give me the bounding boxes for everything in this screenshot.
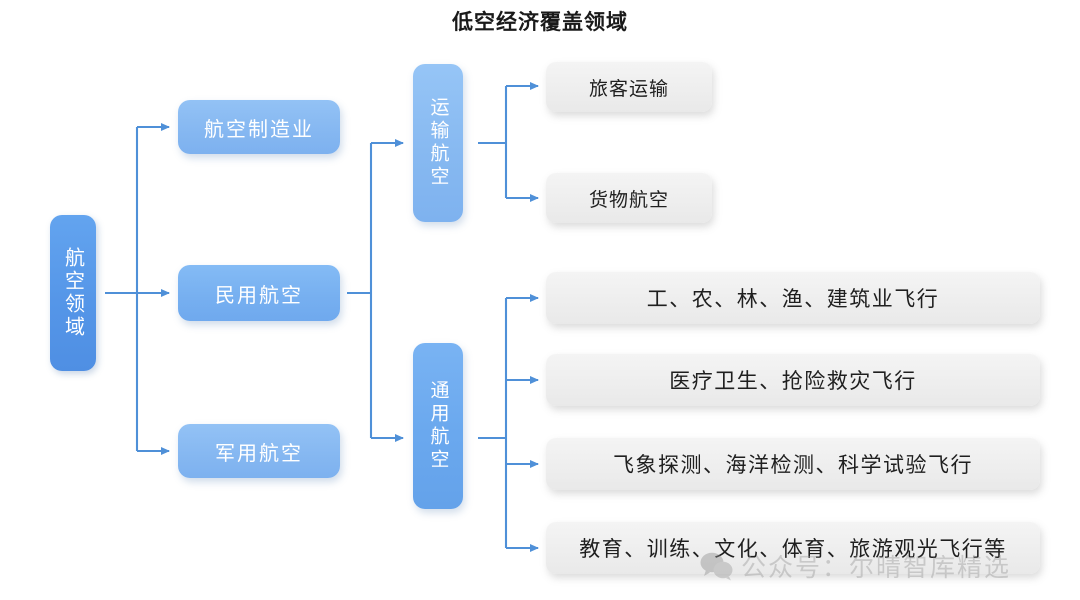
node-aviation-domain[interactable]: 航空领域 xyxy=(50,215,96,371)
node-industry-agriculture-flight[interactable]: 工、农、林、渔、建筑业飞行 xyxy=(546,272,1040,324)
node-cargo-aviation[interactable]: 货物航空 xyxy=(546,173,712,223)
node-education-tourism-flight-label: 教育、训练、文化、体育、旅游观光飞行等 xyxy=(579,533,1007,563)
node-industry-agriculture-flight-label: 工、农、林、渔、建筑业飞行 xyxy=(647,283,940,313)
node-education-tourism-flight[interactable]: 教育、训练、文化、体育、旅游观光飞行等 xyxy=(546,522,1040,574)
node-aviation-manufacturing[interactable]: 航空制造业 xyxy=(178,100,340,154)
node-medical-rescue-flight[interactable]: 医疗卫生、抢险救灾飞行 xyxy=(546,354,1040,406)
node-passenger-transport-label: 旅客运输 xyxy=(589,74,669,101)
node-passenger-transport[interactable]: 旅客运输 xyxy=(546,62,712,112)
node-military-aviation-label: 军用航空 xyxy=(215,437,303,466)
node-civil-aviation-label: 民用航空 xyxy=(215,279,303,308)
node-science-survey-flight[interactable]: 飞象探测、海洋检测、科学试验飞行 xyxy=(546,438,1040,490)
node-military-aviation[interactable]: 军用航空 xyxy=(178,424,340,478)
node-aviation-domain-label: 航空领域 xyxy=(59,247,88,339)
diagram-canvas: 低空经济覆盖领域 xyxy=(0,0,1080,600)
node-cargo-aviation-label: 货物航空 xyxy=(589,185,669,212)
node-general-aviation-label: 通用航空 xyxy=(425,380,452,472)
node-science-survey-flight-label: 飞象探测、海洋检测、科学试验飞行 xyxy=(613,449,973,479)
node-transport-aviation[interactable]: 运输航空 xyxy=(413,64,463,222)
node-transport-aviation-label: 运输航空 xyxy=(425,97,452,189)
node-medical-rescue-flight-label: 医疗卫生、抢险救灾飞行 xyxy=(669,365,917,395)
node-aviation-manufacturing-label: 航空制造业 xyxy=(204,113,314,142)
node-civil-aviation[interactable]: 民用航空 xyxy=(178,265,340,321)
node-general-aviation[interactable]: 通用航空 xyxy=(413,343,463,509)
